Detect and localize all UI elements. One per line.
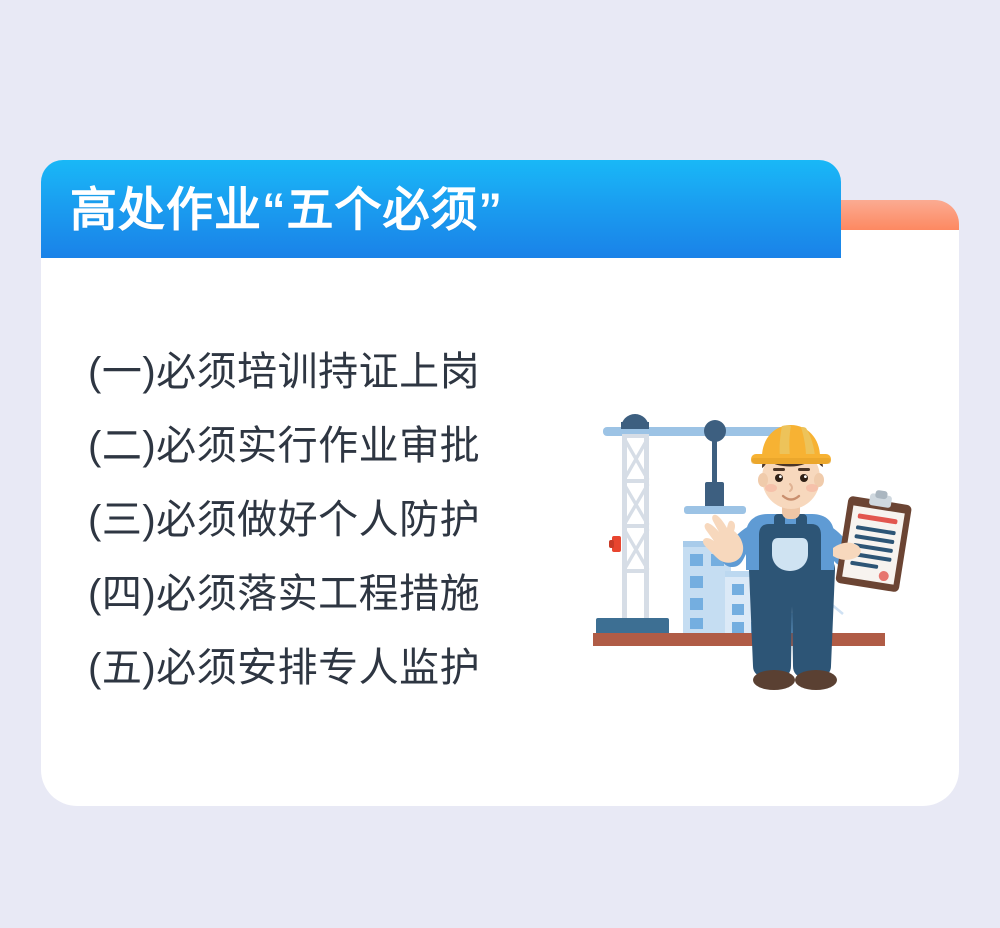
clipboard-icon [835, 486, 914, 593]
list-item: (五)必须安排专人监护 [88, 648, 480, 688]
list-item: (二)必须实行作业审批 [88, 426, 480, 466]
poster-root: 高处作业“五个必须” (一)必须培训持证上岗 (二)必须实行作业审批 (三)必须… [0, 0, 1000, 928]
requirement-list: (一)必须培训持证上岗 (二)必须实行作业审批 (三)必须做好个人防护 (四)必… [88, 352, 480, 688]
ground-bar [593, 633, 885, 646]
crane-red-part [609, 536, 621, 552]
shoe-left [753, 670, 795, 690]
shoe-right [795, 670, 837, 690]
list-item: (四)必须落实工程措施 [88, 574, 480, 614]
page-title: 高处作业“五个必须” [41, 186, 503, 233]
list-item: (三)必须做好个人防护 [88, 500, 480, 540]
construction-worker-illustration [585, 408, 935, 703]
worker-figure [703, 425, 854, 690]
card-header: 高处作业“五个必须” [41, 160, 841, 258]
overalls-pocket [772, 538, 808, 571]
list-item: (一)必须培训持证上岗 [88, 352, 480, 392]
